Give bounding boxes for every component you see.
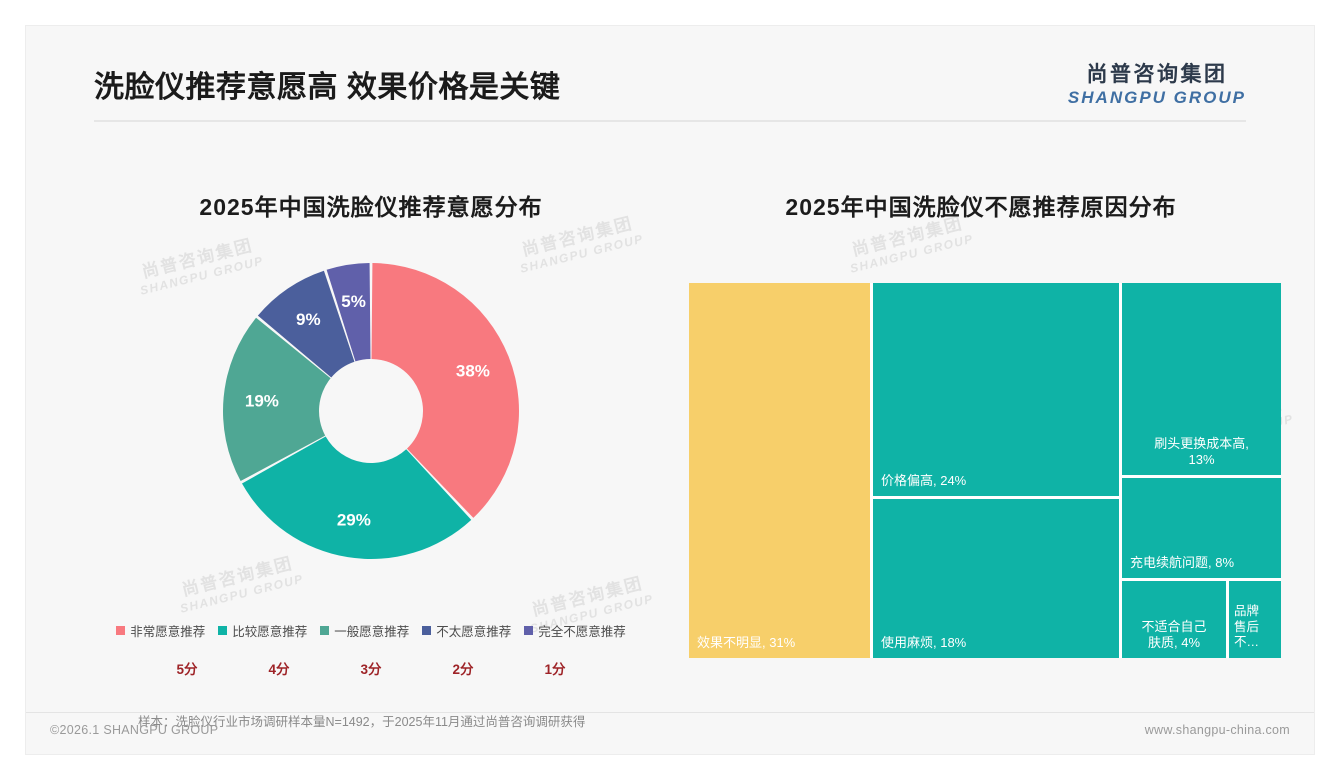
donut-chart-svg: 38%29%19%9%5% — [221, 261, 521, 561]
donut-value-label: 38% — [456, 362, 490, 381]
legend-label: 不太愿意推荐 — [436, 621, 511, 640]
donut-value-label: 9% — [296, 310, 321, 329]
treemap-tile[interactable]: 效果不明显, 31% — [689, 283, 870, 658]
brand-logo-en: SHANGPU GROUP — [1068, 89, 1246, 106]
legend-swatch-icon — [116, 626, 125, 635]
footer-copyright: ©2026.1 SHANGPU GROUP — [50, 723, 218, 737]
score-label: 5分 — [141, 658, 233, 678]
treemap-tile[interactable]: 品牌 售后 不… — [1229, 581, 1281, 658]
treemap-tile-label: 品牌 售后 不… — [1234, 604, 1259, 651]
legend-label: 完全不愿意推荐 — [538, 621, 626, 640]
slide-header: 洗脸仪推荐意愿高 效果价格是关键 尚普咨询集团 SHANGPU GROUP — [26, 26, 1314, 122]
legend-swatch-icon — [422, 626, 431, 635]
donut-value-label: 5% — [341, 292, 366, 311]
score-label: 2分 — [417, 658, 509, 678]
treemap-tile-label: 刷头更换成本高, 13% — [1128, 436, 1275, 469]
treemap-chart-panel: 2025年中国洗脸仪不愿推荐原因分布 效果不明显, 31%价格偏高, 24%使用… — [681, 146, 1281, 706]
score-label-row: 5分4分3分2分1分 — [66, 658, 676, 678]
treemap-tile[interactable]: 价格偏高, 24% — [873, 283, 1119, 496]
treemap-tile[interactable]: 不适合自己 肤质, 4% — [1122, 581, 1226, 658]
treemap-tile[interactable]: 使用麻烦, 18% — [873, 499, 1119, 658]
treemap-tile-label: 使用麻烦, 18% — [881, 635, 966, 651]
legend-item[interactable]: 非常愿意推荐 — [116, 621, 205, 640]
legend-item[interactable]: 完全不愿意推荐 — [524, 621, 626, 640]
legend-item[interactable]: 一般愿意推荐 — [320, 621, 409, 640]
slide-canvas: 尚普咨询集团 SHANGPU GROUP 尚普咨询集团 SHANGPU GROU… — [26, 26, 1314, 754]
treemap-tile[interactable]: 充电续航问题, 8% — [1122, 478, 1281, 578]
footer-website: www.shangpu-china.com — [1145, 723, 1290, 737]
donut-value-label: 29% — [337, 510, 371, 529]
legend-item[interactable]: 不太愿意推荐 — [422, 621, 511, 640]
brand-logo: 尚普咨询集团 SHANGPU GROUP — [1068, 64, 1246, 106]
score-label: 1分 — [509, 658, 601, 678]
legend-label: 一般愿意推荐 — [334, 621, 409, 640]
donut-legend: 非常愿意推荐比较愿意推荐一般愿意推荐不太愿意推荐完全不愿意推荐 — [66, 621, 676, 640]
header-divider — [94, 120, 1246, 122]
legend-label: 非常愿意推荐 — [130, 621, 205, 640]
footer-divider — [26, 712, 1314, 713]
brand-logo-cn: 尚普咨询集团 — [1068, 64, 1246, 85]
legend-swatch-icon — [524, 626, 533, 635]
donut-chart-panel: 2025年中国洗脸仪推荐意愿分布 38%29%19%9%5% 非常愿意推荐比较愿… — [66, 146, 676, 706]
treemap-chart: 效果不明显, 31%价格偏高, 24%使用麻烦, 18%刷头更换成本高, 13%… — [689, 283, 1281, 658]
legend-swatch-icon — [218, 626, 227, 635]
treemap-tile-label: 效果不明显, 31% — [697, 635, 795, 651]
page-title: 洗脸仪推荐意愿高 效果价格是关键 — [94, 62, 560, 106]
legend-item[interactable]: 比较愿意推荐 — [218, 621, 307, 640]
score-label: 4分 — [233, 658, 325, 678]
donut-slice-group[interactable] — [223, 263, 519, 559]
legend-label: 比较愿意推荐 — [232, 621, 307, 640]
treemap-tile[interactable]: 刷头更换成本高, 13% — [1122, 283, 1281, 475]
treemap-tile-label: 不适合自己 肤质, 4% — [1122, 619, 1226, 652]
donut-chart: 38%29%19%9%5% — [221, 261, 521, 561]
donut-chart-title: 2025年中国洗脸仪推荐意愿分布 — [66, 188, 676, 222]
score-label: 3分 — [325, 658, 417, 678]
legend-swatch-icon — [320, 626, 329, 635]
donut-value-label: 19% — [245, 392, 279, 411]
treemap-chart-title: 2025年中国洗脸仪不愿推荐原因分布 — [681, 188, 1281, 222]
treemap-tile-label: 价格偏高, 24% — [881, 473, 966, 489]
treemap-tile-label: 充电续航问题, 8% — [1130, 555, 1234, 571]
